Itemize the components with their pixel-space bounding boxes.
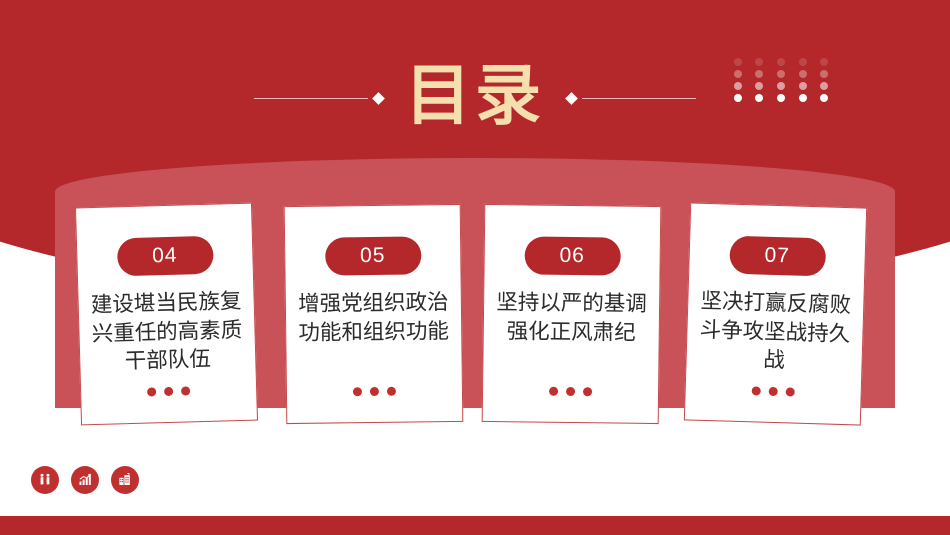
card-dots-decoration [549, 387, 592, 397]
title-left-line [254, 98, 368, 99]
bar-chart-growth-icon[interactable] [71, 466, 99, 494]
toc-card[interactable]: 04 建设堪当民族复兴重任的高素质干部队伍 [75, 203, 258, 426]
card-number-badge: 06 [524, 236, 620, 275]
card-dots-decoration [353, 387, 396, 397]
page-title: 目录 [405, 62, 545, 134]
toc-card[interactable]: 06 坚持以严的基调强化正风肃纪 [482, 204, 662, 424]
slide-root: 目录 04 建设堪当民族复兴重任的高素质干部队伍 05 增强党组织政治功能和组织… [0, 0, 950, 535]
toc-card[interactable]: 05 增强党组织政治功能和组织功能 [284, 204, 464, 424]
diamond-icon [372, 92, 385, 105]
diamond-icon [565, 92, 578, 105]
card-title: 坚持以严的基调强化正风肃纪 [492, 288, 651, 347]
card-title: 坚决打赢反腐败斗争攻坚战持久战 [695, 287, 855, 377]
bottom-accent-bar [0, 516, 950, 535]
card-number-badge: 07 [729, 236, 826, 277]
card-dots-decoration [752, 386, 795, 396]
title-right-line [582, 98, 696, 99]
dot-grid-decoration [727, 56, 835, 104]
people-icon[interactable] [31, 466, 59, 494]
card-number-badge: 05 [325, 236, 421, 275]
card-title: 建设堪当民族复兴重任的高素质干部队伍 [87, 287, 247, 377]
footer-icon-group [31, 466, 139, 494]
card-number-badge: 04 [116, 236, 213, 277]
building-icon[interactable] [111, 466, 139, 494]
card-title: 增强党组织政治功能和组织功能 [294, 288, 453, 347]
toc-card[interactable]: 07 坚决打赢反腐败斗争攻坚战持久战 [684, 202, 867, 425]
card-dots-decoration [147, 386, 190, 396]
